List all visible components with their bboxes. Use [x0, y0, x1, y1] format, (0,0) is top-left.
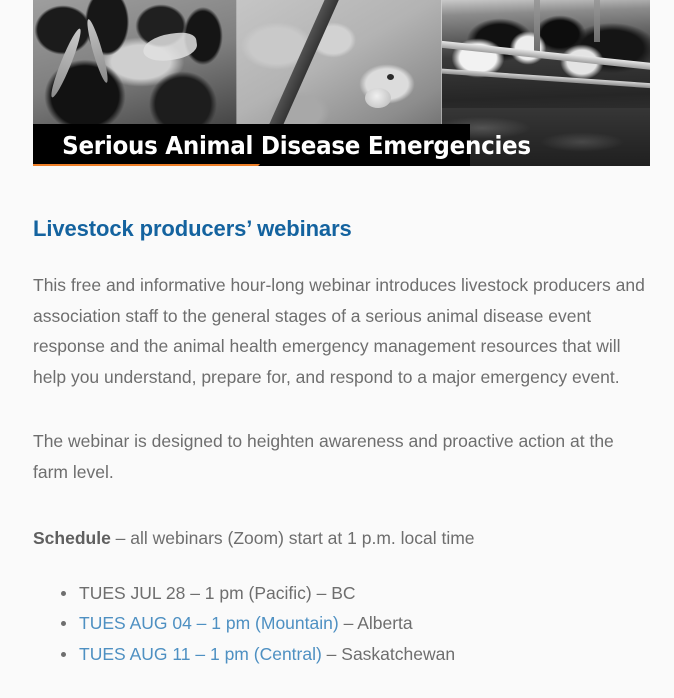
feed-rail-shape	[442, 68, 650, 88]
webinar-banner-image: Serious Animal Disease Emergencies Aware…	[33, 0, 650, 166]
piglet-eye-shape	[387, 74, 394, 80]
pen-rail-shape	[268, 0, 341, 132]
webinar-region-saskatchewan: – Saskatchewan	[322, 644, 455, 664]
list-item: TUES AUG 11 – 1 pm (Central) – Saskatche…	[79, 639, 645, 670]
schedule-note: – all webinars (Zoom) start at 1 p.m. lo…	[111, 528, 475, 548]
banner-title: Serious Animal Disease Emergencies	[33, 131, 531, 160]
purpose-paragraph: The webinar is designed to heighten awar…	[33, 426, 645, 487]
webinar-region-alberta: – Alberta	[339, 613, 413, 633]
page-title: Livestock producers’ webinars	[33, 214, 645, 244]
list-item: TUES AUG 04 – 1 pm (Mountain) – Alberta	[79, 608, 645, 639]
webinar-region-bc: – BC	[312, 583, 356, 603]
banner-title-bar: Serious Animal Disease Emergencies	[33, 124, 470, 166]
goat-horn-icon	[48, 27, 85, 99]
webinar-link-central[interactable]: TUES AUG 11 – 1 pm (Central)	[79, 644, 322, 664]
intro-paragraph: This free and informative hour-long webi…	[33, 270, 645, 392]
schedule-heading-line: Schedule – all webinars (Zoom) start at …	[33, 523, 645, 554]
goat-ear-shape	[141, 30, 198, 63]
article-body: Livestock producers’ webinars This free …	[33, 214, 645, 669]
piglet-snout-shape	[365, 88, 391, 108]
schedule-list: TUES JUL 28 – 1 pm (Pacific) – BC TUES A…	[33, 578, 645, 670]
banner-subtitle-bar: Awareness Webinars	[33, 164, 260, 166]
goat-horn-icon	[84, 18, 111, 84]
webinar-date-pacific: TUES JUL 28 – 1 pm (Pacific)	[79, 583, 312, 603]
list-item: TUES JUL 28 – 1 pm (Pacific) – BC	[79, 578, 645, 609]
schedule-label: Schedule	[33, 528, 111, 548]
webinar-link-mountain[interactable]: TUES AUG 04 – 1 pm (Mountain)	[79, 613, 339, 633]
feed-rail-shape	[442, 41, 650, 71]
barn-post-shape	[594, 0, 600, 42]
barn-post-shape	[534, 0, 540, 52]
